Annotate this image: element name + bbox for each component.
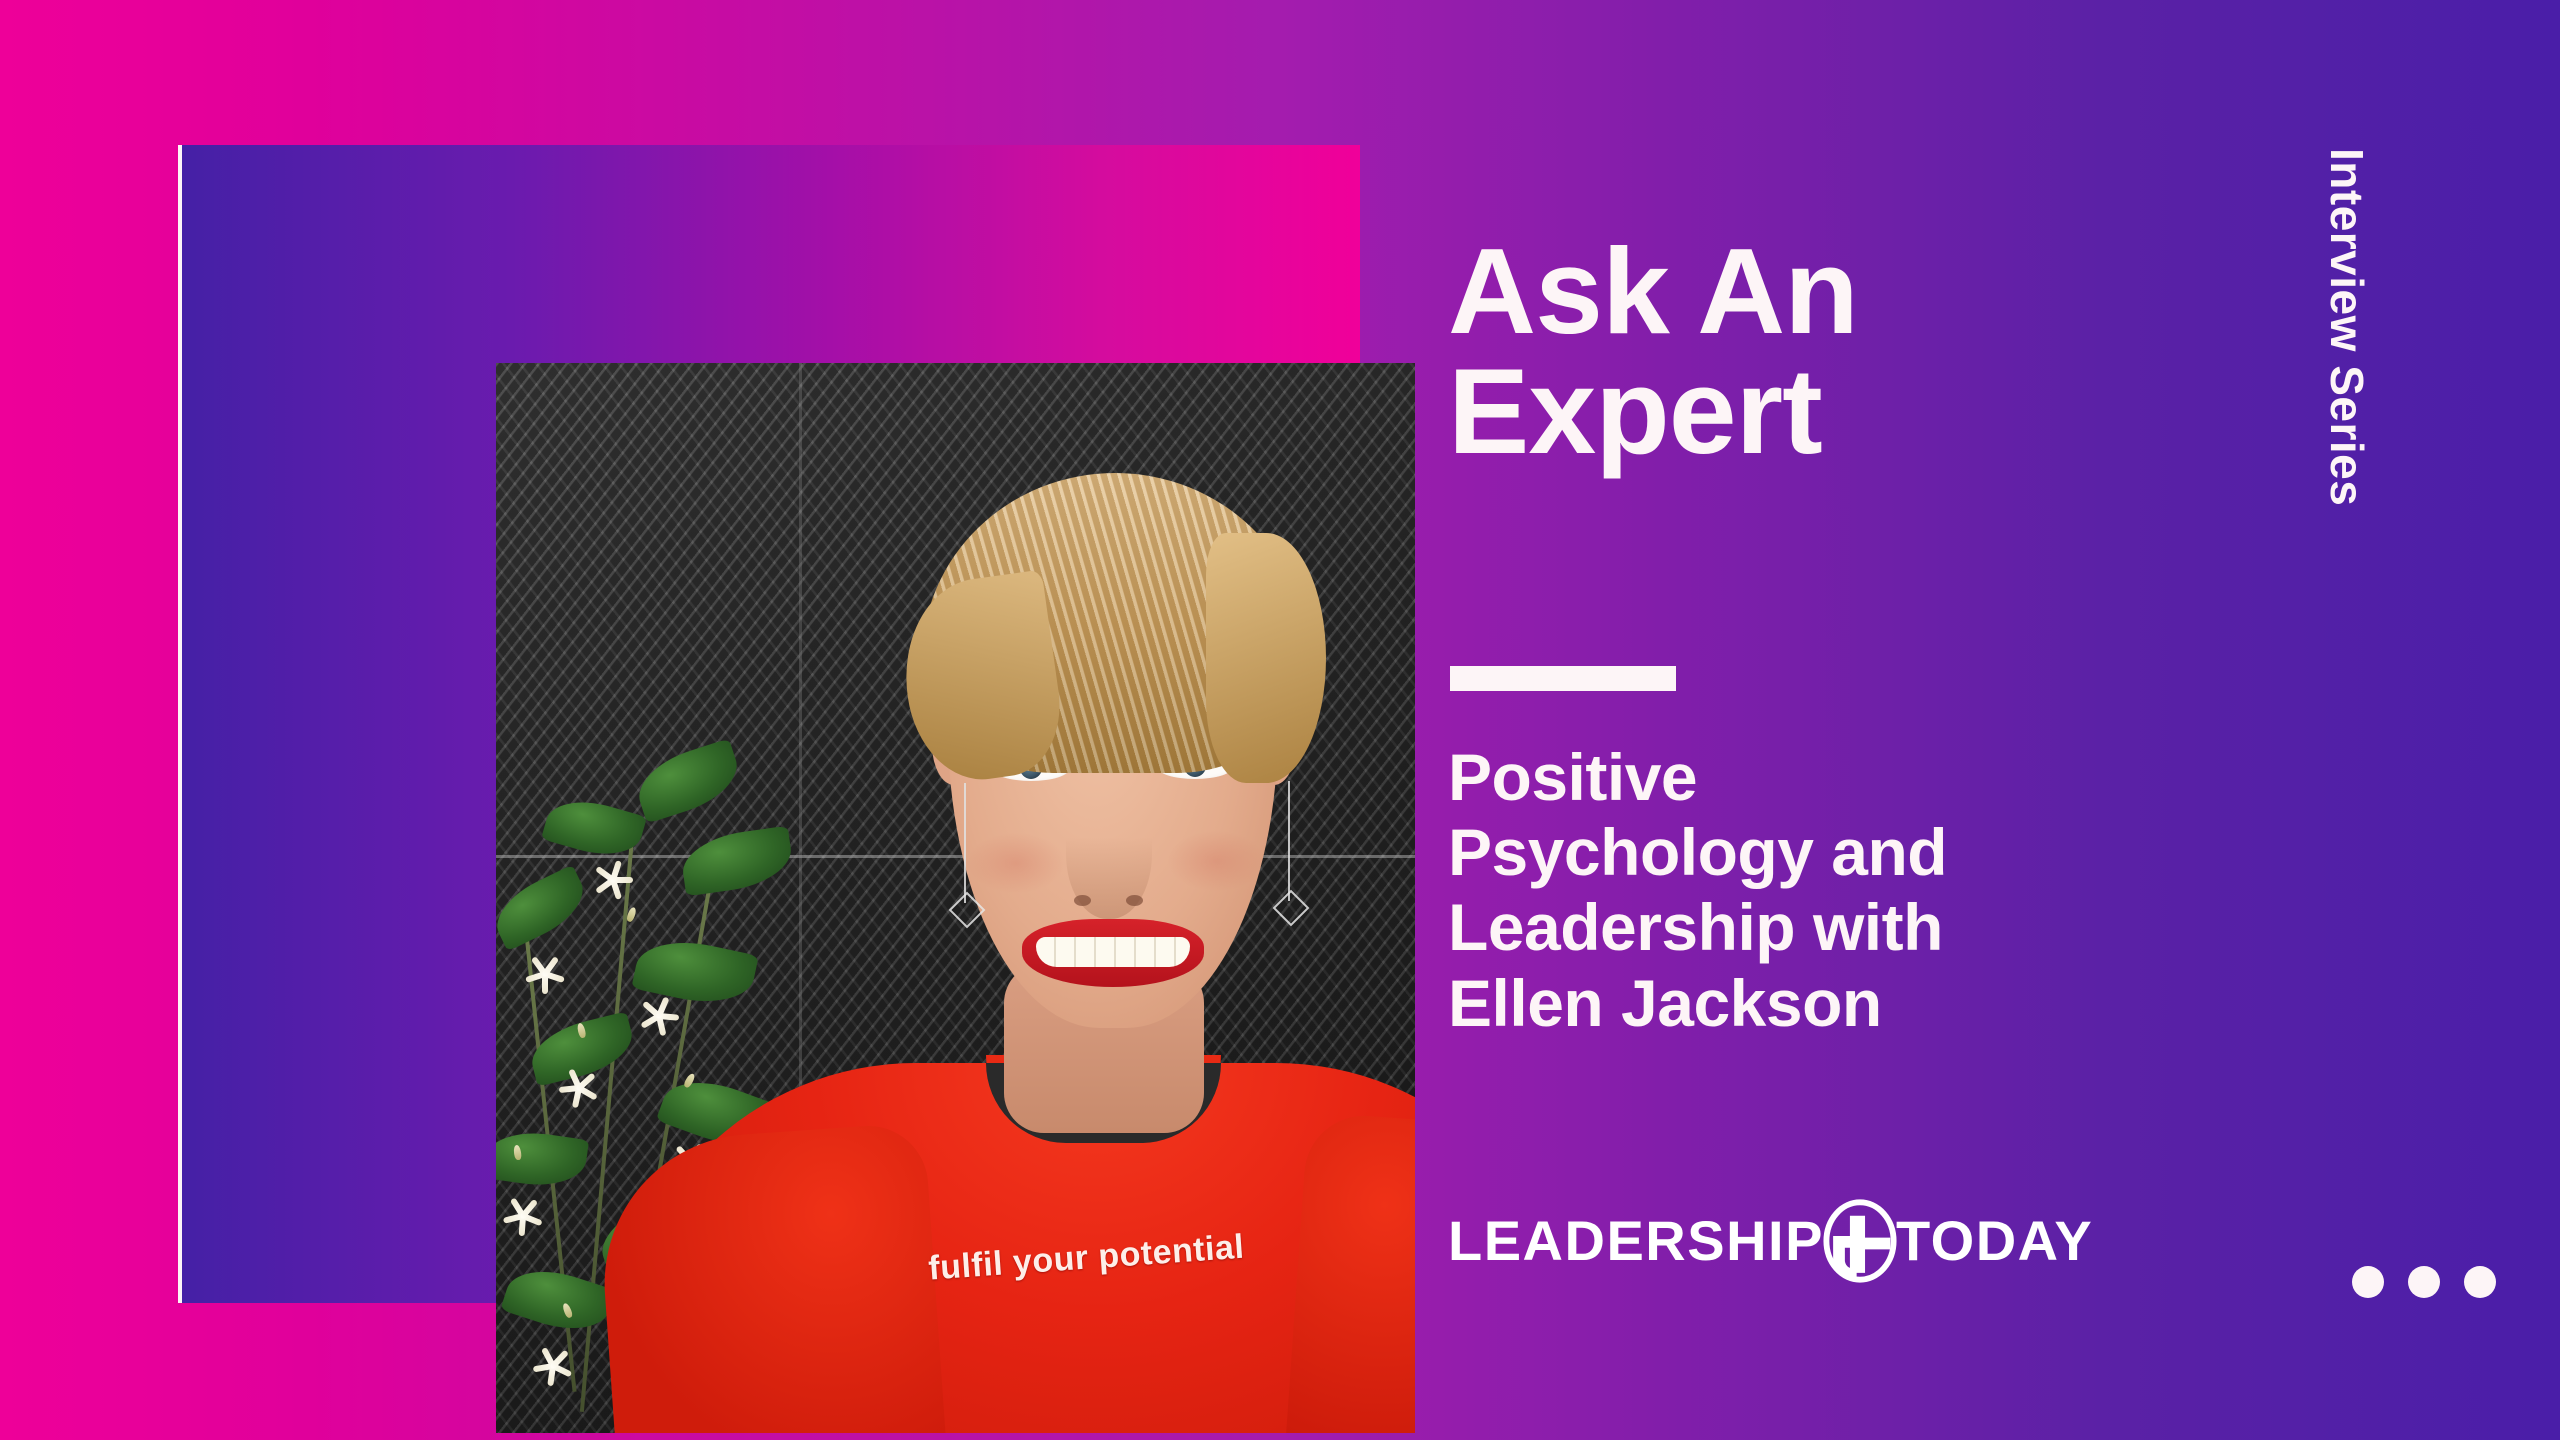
dot-1 (2352, 1266, 2384, 1298)
photo-frame: fulfil your potential (182, 145, 1360, 1303)
hair-sweep (893, 570, 1069, 789)
decorative-dots (2352, 1266, 2496, 1298)
subtitle-line-1: Positive (1448, 740, 1697, 814)
nose (1066, 783, 1152, 919)
series-label: Interview Series (2320, 148, 2374, 506)
subtitle-line-4: Ellen Jackson (1448, 966, 1882, 1040)
text-column: Ask An Expert Positive Psychology and Le… (1448, 0, 2288, 1440)
logo-word-left: LEADERSHIP (1448, 1213, 1824, 1269)
subtitle-line-3: Leadership with (1448, 890, 1943, 964)
promo-card: fulfil your potential Ask An Expert Posi… (0, 0, 2560, 1440)
hair-tuft (1206, 533, 1326, 783)
page-title: Ask An Expert (1448, 232, 2088, 471)
title-divider (1450, 666, 1676, 691)
cheek-right (1168, 831, 1264, 891)
earring-right (1288, 781, 1290, 901)
logo-word-right: TODAY (1896, 1213, 2093, 1269)
dot-3 (2464, 1266, 2496, 1298)
lt-monogram-icon (1818, 1199, 1902, 1283)
mouth (1022, 919, 1204, 987)
leadership-today-logo[interactable]: LEADERSHIP TODAY (1448, 1205, 2093, 1277)
guest-photo: fulfil your potential (496, 363, 1415, 1433)
cheek-left (968, 833, 1064, 893)
title-line-2: Expert (1448, 343, 1822, 479)
earring-left (964, 783, 966, 903)
episode-subtitle: Positive Psychology and Leadership with … (1448, 740, 2268, 1041)
title-line-1: Ask An (1448, 223, 1858, 359)
subtitle-line-2: Psychology and (1448, 815, 1947, 889)
dot-2 (2408, 1266, 2440, 1298)
guest-portrait: fulfil your potential (736, 363, 1415, 1433)
